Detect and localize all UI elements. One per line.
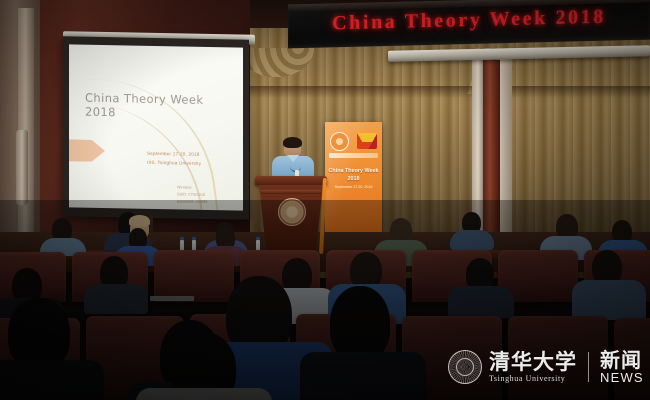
wall-pillar [18,8,34,240]
slide-subtitle-venue: IIIS, Tsinghua University [147,158,243,169]
news-label-cn: 新闻 [600,350,644,371]
watermark-news: 新闻 NEWS [600,350,644,385]
tsinghua-seal-icon [330,132,349,151]
podium [259,176,323,258]
audience-shoulders [448,286,514,318]
audience-shoulders [84,284,148,314]
audience-shoulders [0,360,104,400]
audience-shoulders [300,352,426,400]
watermark-university: 清华大学 Tsinghua University [489,351,577,383]
speaker-hair [283,137,302,148]
university-name-en: Tsinghua University [489,374,577,383]
banner-date: September 17-20, 2018 [327,185,380,190]
bottle-cap [192,237,196,240]
tsinghua-seal-icon [448,350,482,384]
watermark-divider [588,352,589,382]
slide-title: China Theory Week 2018 [85,91,235,122]
audience-shoulders [572,280,646,320]
bottle-cap [256,237,260,240]
laptop [150,296,194,301]
podium-top [255,176,327,185]
banner-organization-text [329,153,378,158]
iiis-logo-icon [357,133,377,149]
presentation-slide: China Theory Week 2018 September 17-20, … [69,44,243,210]
banner-logos [330,130,377,152]
podium-seal-icon [278,198,306,226]
audience-shoulders [450,230,494,250]
podium-band [261,190,321,194]
slide-wifi-password: password: ctw888 [177,198,241,206]
banner-title: China Theory Week 2018 [327,168,380,183]
bottle-cap [180,237,184,240]
university-name-cn: 清华大学 [489,351,577,373]
news-label-en: NEWS [600,371,644,385]
wall-speaker-column [16,130,28,205]
audience-head [330,286,390,362]
watermark: 清华大学 Tsinghua University 新闻 NEWS [448,345,644,389]
audience-hair [129,215,150,227]
lecture-hall-photo: China Theory Week 2018 China Theory Week… [0,0,650,400]
auditorium-seat [154,250,234,302]
audience-shoulders [136,388,272,400]
